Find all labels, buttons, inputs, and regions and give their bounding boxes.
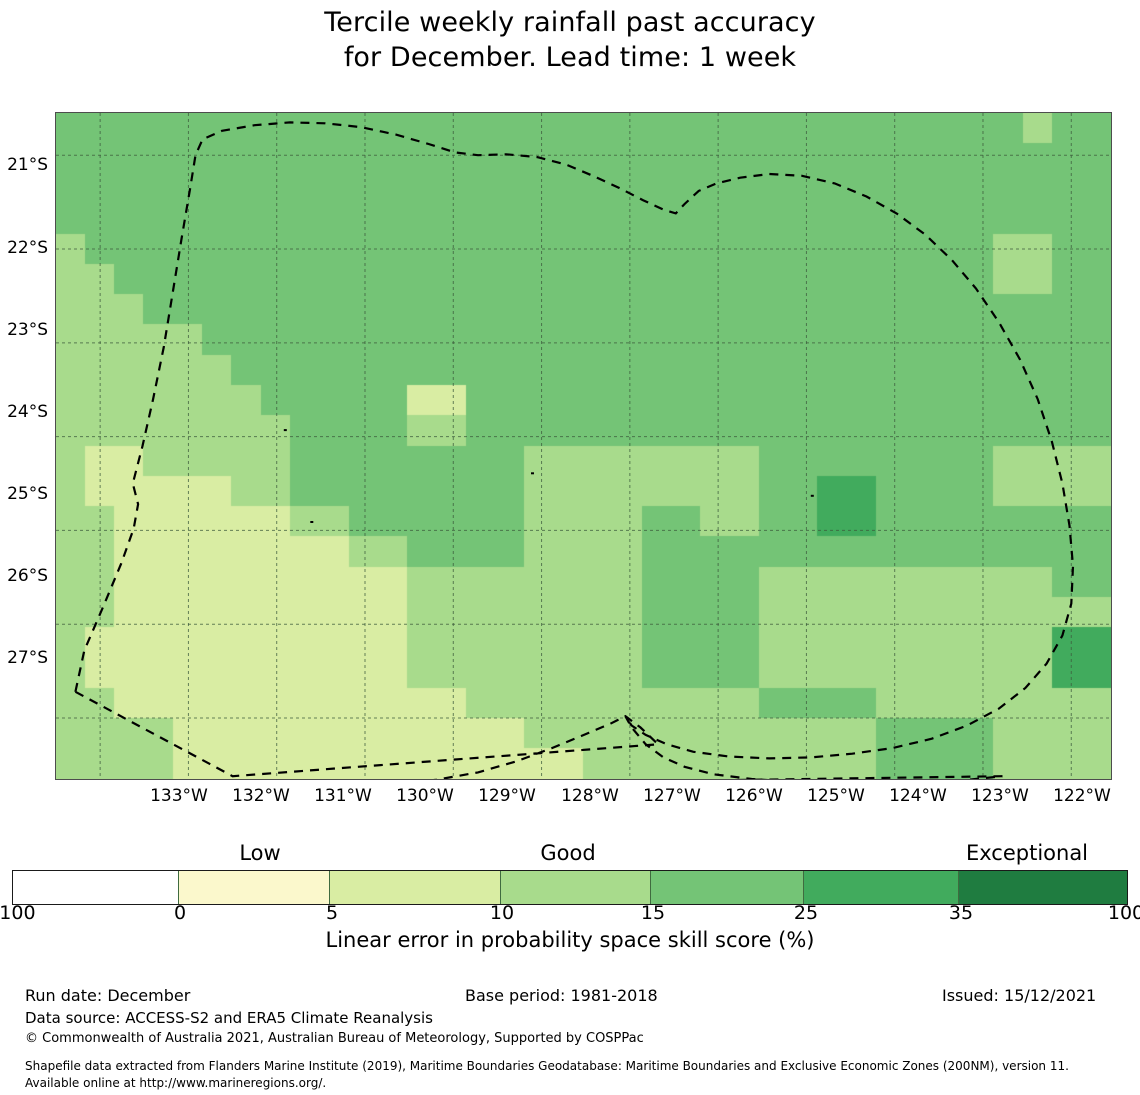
colorbar-segment[interactable] (13, 871, 179, 904)
footer-row-primary: Run date: December Base period: 1981-201… (0, 986, 1140, 1008)
footer-shapefile-note: Shapefile data extracted from Flanders M… (25, 1058, 1125, 1093)
colorbar-category-label: Exceptional (877, 841, 1140, 865)
footer-issued-date: Issued: 15/12/2021 (942, 986, 1096, 1005)
colorbar-category-label: Low (110, 841, 410, 865)
colorbar[interactable] (12, 870, 1128, 905)
lat-tick-label: 23°S (0, 320, 48, 340)
colorbar-segment[interactable] (179, 871, 331, 904)
colorbar-category-label: Good (418, 841, 718, 865)
colorbar-segment[interactable] (501, 871, 651, 904)
colorbar-segment[interactable] (330, 871, 500, 904)
footer-base-period: Base period: 1981-2018 (465, 986, 658, 1005)
lat-tick-label: 26°S (0, 566, 48, 586)
colorbar-segment[interactable] (959, 871, 1127, 904)
lat-tick-label: 24°S (0, 402, 48, 422)
page-title: Tercile weekly rainfall past accuracy fo… (0, 6, 1140, 75)
colorbar-tick-label: 5 (262, 902, 402, 924)
map-plot-area[interactable] (55, 112, 1112, 780)
lat-tick-label: 21°S (0, 155, 48, 175)
colorbar-segment[interactable] (804, 871, 959, 904)
colorbar-tick-label: -100 (0, 902, 84, 924)
colorbar-tick-label: 100 (1056, 902, 1140, 924)
title-line-2: for December. Lead time: 1 week (0, 41, 1140, 76)
colorbar-tick-label: 10 (432, 902, 572, 924)
lat-tick-label: 25°S (0, 484, 48, 504)
colorbar-segment[interactable] (651, 871, 804, 904)
footer-run-date: Run date: December (25, 986, 190, 1005)
colorbar-axis-title: Linear error in probability space skill … (0, 928, 1140, 952)
title-line-1: Tercile weekly rainfall past accuracy (0, 6, 1140, 41)
footer-data-source: Data source: ACCESS-S2 and ERA5 Climate … (25, 1009, 433, 1027)
footer: Run date: December Base period: 1981-201… (0, 986, 1140, 1095)
colorbar-tick-label: 25 (736, 902, 876, 924)
colorbar-tick-label: 0 (110, 902, 250, 924)
lon-tick-label: 122°W (1022, 786, 1140, 806)
colorbar-tick-label: 35 (891, 902, 1031, 924)
colorbar-tick-label: 15 (583, 902, 723, 924)
lat-tick-label: 22°S (0, 238, 48, 258)
skill-score-heatmap (56, 113, 1111, 779)
footer-copyright: © Commonwealth of Australia 2021, Austra… (25, 1031, 644, 1046)
lat-tick-label: 27°S (0, 648, 48, 668)
